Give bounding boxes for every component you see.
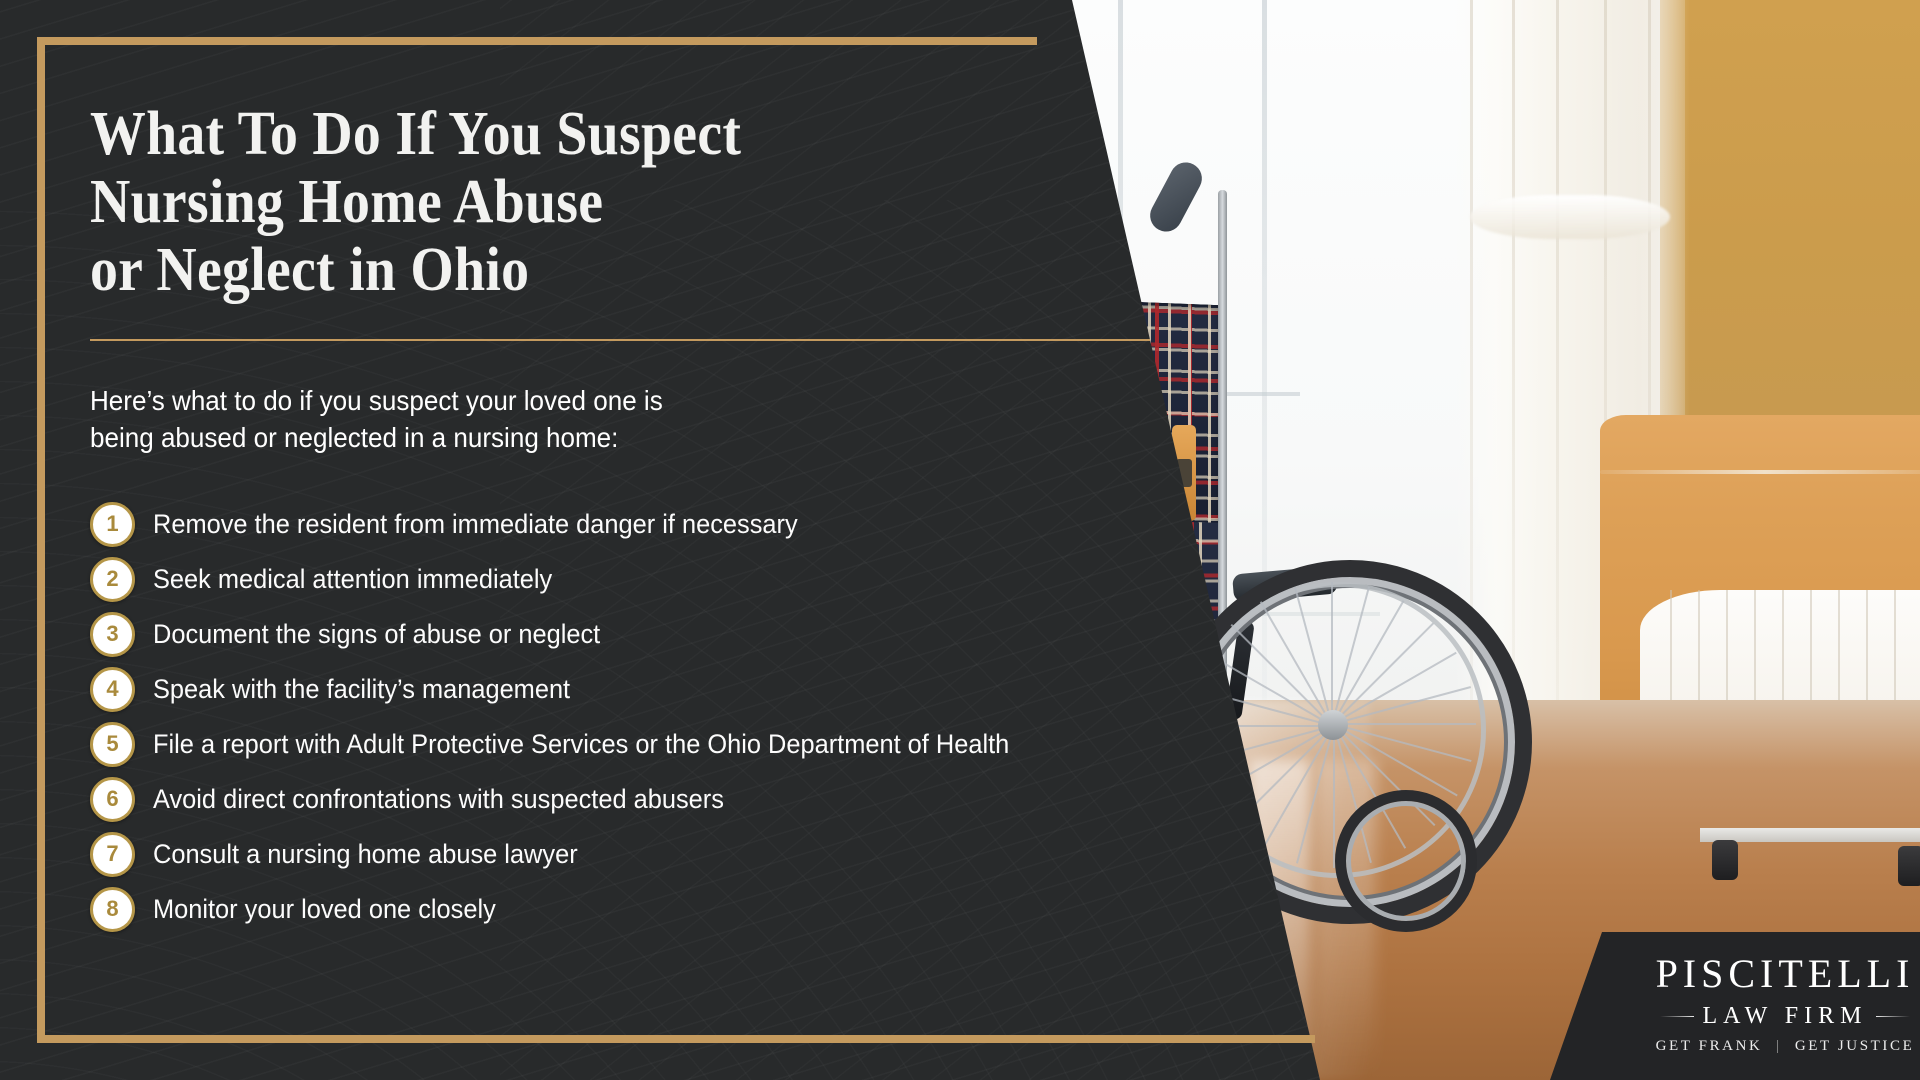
step-number-badge: 2 xyxy=(90,557,135,602)
logo-tagline-right: GET JUSTICE xyxy=(1795,1038,1915,1054)
logo-tagline-divider: | xyxy=(1776,1038,1782,1055)
step-number-badge: 3 xyxy=(90,612,135,657)
step-text: Remove the resident from immediate dange… xyxy=(153,509,798,540)
gold-frame-top xyxy=(37,37,1037,45)
step-number-badge: 6 xyxy=(90,777,135,822)
step-number-badge: 4 xyxy=(90,667,135,712)
wheelchair-front-wheel xyxy=(1335,790,1477,932)
step-text: Consult a nursing home abuse lawyer xyxy=(153,839,578,870)
step-number-badge: 1 xyxy=(90,502,135,547)
step-number-badge: 7 xyxy=(90,832,135,877)
lede-line-2: being abused or neglected in a nursing h… xyxy=(90,420,1113,457)
title-line-2: Nursing Home Abuse xyxy=(90,168,1080,236)
content-column: What To Do If You Suspect Nursing Home A… xyxy=(90,100,1190,942)
lede-line-1: Here’s what to do if you suspect your lo… xyxy=(90,383,1113,420)
gold-frame-bottom xyxy=(37,1035,1315,1043)
list-item: 5 File a report with Adult Protective Se… xyxy=(90,722,1190,766)
gold-frame-left xyxy=(37,37,45,1043)
logo-tagline: GET FRANK | GET JUSTICE xyxy=(1620,1038,1920,1055)
logo-rule-right xyxy=(1876,1016,1910,1017)
step-text: Monitor your loved one closely xyxy=(153,894,496,925)
logo-subtitle: LAW FIRM xyxy=(1703,1003,1868,1030)
page-title: What To Do If You Suspect Nursing Home A… xyxy=(90,100,1080,305)
logo-tagline-left: GET FRANK xyxy=(1656,1038,1763,1054)
step-number-badge: 8 xyxy=(90,887,135,932)
list-item: 2 Seek medical attention immediately xyxy=(90,557,1190,601)
logo-rule-left xyxy=(1660,1016,1694,1017)
list-item: 7 Consult a nursing home abuse lawyer xyxy=(90,832,1190,876)
title-line-3: or Neglect in Ohio xyxy=(90,236,1080,304)
lede-paragraph: Here’s what to do if you suspect your lo… xyxy=(90,383,1113,457)
step-text: Seek medical attention immediately xyxy=(153,564,552,595)
list-item: 3 Document the signs of abuse or neglect xyxy=(90,612,1190,656)
list-item: 6 Avoid direct confrontations with suspe… xyxy=(90,777,1190,821)
step-text: Speak with the facility’s management xyxy=(153,674,570,705)
steps-list: 1 Remove the resident from immediate dan… xyxy=(90,502,1190,931)
step-text: File a report with Adult Protective Serv… xyxy=(153,729,1009,760)
logo-plate: PISCITELLI LAW FIRM GET FRANK | GET JUST… xyxy=(1550,932,1920,1080)
step-number-badge: 5 xyxy=(90,722,135,767)
infographic-canvas: What To Do If You Suspect Nursing Home A… xyxy=(0,0,1920,1080)
list-item: 8 Monitor your loved one closely xyxy=(90,887,1190,931)
logo-subtitle-row: LAW FIRM xyxy=(1620,1003,1920,1030)
step-text: Document the signs of abuse or neglect xyxy=(153,619,600,650)
list-item: 4 Speak with the facility’s management xyxy=(90,667,1190,711)
list-item: 1 Remove the resident from immediate dan… xyxy=(90,502,1190,546)
title-line-1: What To Do If You Suspect xyxy=(90,100,1080,168)
step-text: Avoid direct confrontations with suspect… xyxy=(153,784,724,815)
logo-firm-name: PISCITELLI xyxy=(1620,954,1920,994)
gold-divider-rule xyxy=(90,339,1150,341)
law-firm-logo: PISCITELLI LAW FIRM GET FRANK | GET JUST… xyxy=(1620,954,1920,1055)
